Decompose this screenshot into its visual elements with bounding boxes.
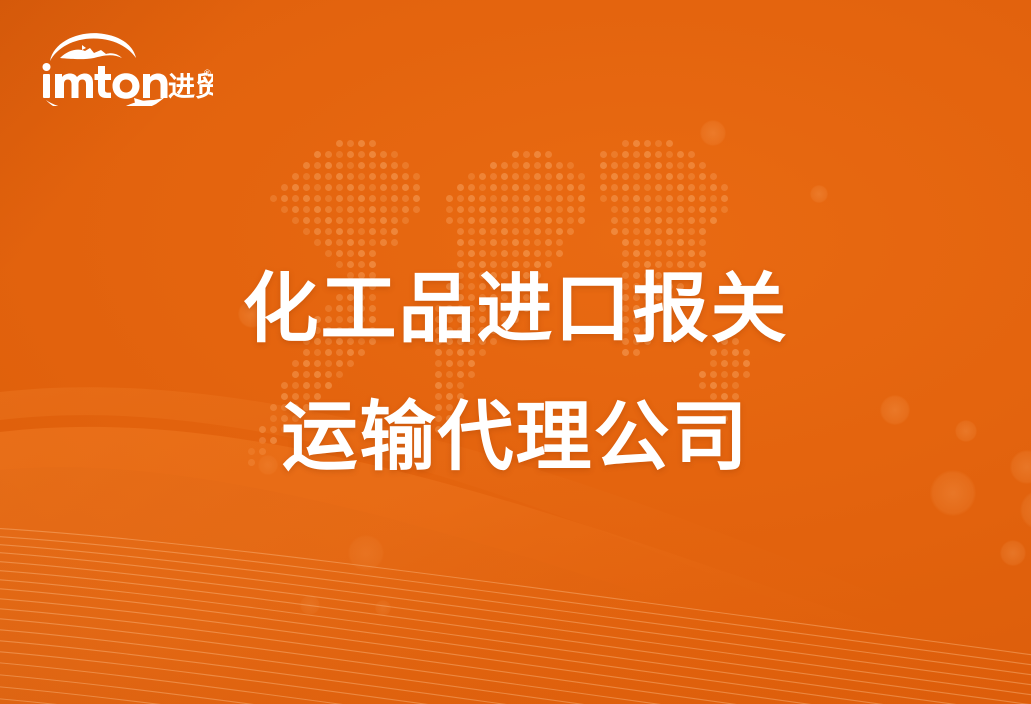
logo-wordmark-latin — [43, 63, 168, 99]
headline-line-1: 化工品进口报关 — [0, 246, 1031, 374]
headline-block: 化工品进口报关 运输代理公司 — [0, 246, 1031, 502]
brand-logo[interactable]: 进贸通 ® — [38, 28, 213, 106]
promo-banner: 进贸通 ® 化工品进口报关 运输代理公司 — [0, 0, 1031, 704]
globe-arc-icon — [50, 33, 136, 61]
trademark-icon: ® — [204, 68, 211, 78]
headline-line-2: 运输代理公司 — [0, 374, 1031, 502]
